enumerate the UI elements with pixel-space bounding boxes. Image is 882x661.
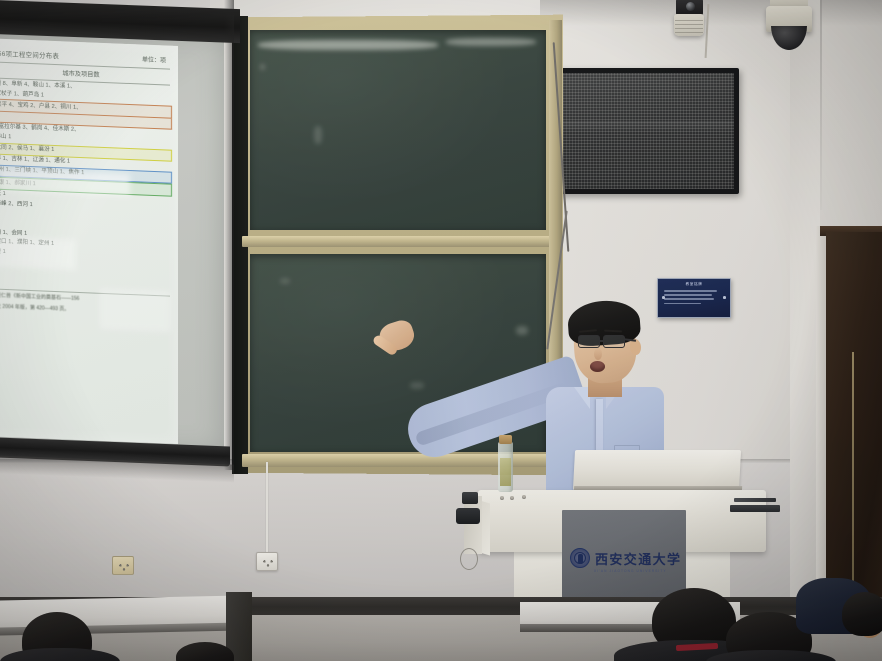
university-logo: 西安交通大学 bbox=[570, 544, 682, 572]
lectern-side-slot bbox=[462, 492, 478, 504]
chalkboard-middle-rail bbox=[242, 236, 554, 247]
speaker-grille-panel bbox=[543, 68, 739, 194]
dome-camera-bubble bbox=[771, 26, 807, 50]
speaker-grille-highlight bbox=[548, 121, 734, 133]
bullet-camera-ridges bbox=[675, 20, 703, 34]
ceiling-shadow bbox=[540, 0, 882, 26]
xjtu-emblem-icon bbox=[570, 548, 590, 568]
chalk-smear bbox=[314, 126, 322, 144]
slide-unit-label: 单位：项 bbox=[142, 55, 166, 65]
bottle-cork-cap bbox=[499, 435, 512, 444]
lectern-cable-hook bbox=[460, 548, 478, 570]
projected-slide: 156项工程空间分布表 单位：项 城市及项目数 阳 7、抚顺 8、阜新 4、鞍山… bbox=[0, 38, 178, 444]
door-jamb bbox=[816, 226, 826, 630]
lectern-button[interactable] bbox=[510, 496, 514, 500]
wall-outlet-amber[interactable] bbox=[112, 556, 134, 575]
lectern-monitor-lid[interactable] bbox=[573, 450, 741, 490]
dome-ptz-camera bbox=[762, 0, 816, 58]
glasses-lens-left bbox=[578, 335, 600, 348]
glasses-bridge bbox=[599, 340, 604, 342]
lectern-vent bbox=[730, 505, 780, 512]
outlet-socket-holes bbox=[262, 559, 274, 567]
projection-glare bbox=[0, 236, 76, 270]
university-name-cn: 西安交通大学 bbox=[595, 549, 681, 568]
student-head bbox=[842, 592, 882, 636]
plaque-title: 教室铭牌 bbox=[657, 282, 731, 287]
lectern-remote[interactable] bbox=[456, 508, 480, 524]
lectern-button[interactable] bbox=[500, 496, 504, 500]
screen-edge-shadow bbox=[224, 0, 234, 470]
lectern-indicator-led bbox=[522, 495, 526, 499]
nose bbox=[594, 348, 602, 360]
lecture-hall-photo: 教室铭牌 156项工程空间分布表 单位：项 城市及项目数 阳 7、抚顺 8、阜新… bbox=[0, 0, 882, 661]
chalk-smear bbox=[446, 38, 536, 46]
wall-outlet[interactable] bbox=[256, 552, 278, 571]
wall-vertical-seam bbox=[820, 0, 822, 210]
chalk-smear bbox=[260, 64, 265, 70]
chalk-smear bbox=[258, 40, 438, 50]
mouth bbox=[590, 361, 605, 372]
university-name-en: XI'AN JIAOTONG UNIVERSITY bbox=[594, 569, 690, 573]
chalkboard-upper-panel bbox=[250, 30, 546, 230]
lectern-side-left bbox=[464, 496, 482, 554]
plaque-line bbox=[664, 290, 717, 292]
projector-screen: 156项工程空间分布表 单位：项 城市及项目数 阳 7、抚顺 8、阜新 4、鞍山… bbox=[0, 0, 242, 470]
glass-tea-bottle[interactable] bbox=[498, 442, 513, 492]
bullet-camera-lens-housing bbox=[676, 0, 703, 15]
projection-glare bbox=[100, 289, 170, 332]
glasses-lens-right bbox=[603, 335, 625, 348]
bullet-camera bbox=[672, 0, 706, 38]
slide-title: 156项工程空间分布表 bbox=[0, 49, 59, 61]
lectern-vent bbox=[734, 498, 776, 502]
wooden-door[interactable] bbox=[826, 232, 882, 630]
wall-cable bbox=[266, 462, 268, 566]
chalk-smear bbox=[280, 278, 290, 284]
bullet-camera-lens bbox=[686, 2, 695, 11]
tea-liquid bbox=[500, 458, 511, 486]
outlet-socket-holes bbox=[118, 563, 130, 571]
